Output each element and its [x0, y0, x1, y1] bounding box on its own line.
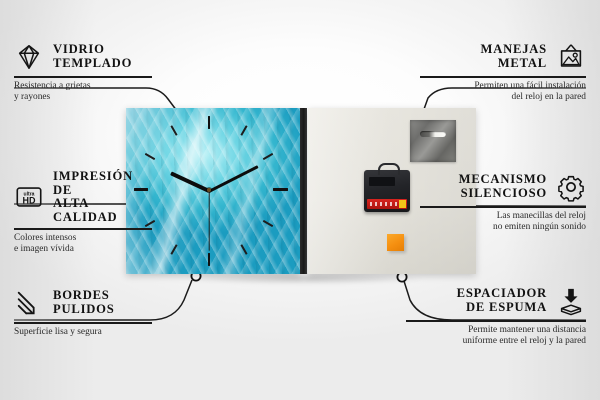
clock-second-hand	[208, 191, 209, 251]
metal-hanger-plate	[410, 120, 456, 162]
feature-title: BORDES PULIDOS	[53, 289, 115, 316]
clock-tick-2	[263, 153, 274, 160]
feature-description: Superficie lisa y segura	[14, 327, 152, 338]
feature-title: MECANISMO SILENCIOSO	[459, 173, 547, 200]
clock-tick-10	[145, 153, 156, 160]
feature-description: Permiten una fácil instalación del reloj…	[420, 81, 586, 104]
ultra-hd-icon: ultra HD	[14, 182, 44, 212]
clock-hour-hand	[170, 171, 210, 192]
feature-rule	[420, 206, 586, 208]
infographic-canvas: VIDRIO TEMPLADO Resistencia a grietas y …	[0, 0, 600, 400]
clock-tick-7	[170, 244, 177, 255]
foam-spacer-icon	[556, 286, 586, 316]
clock-tick-4	[263, 220, 274, 227]
feature-title: IMPRESIÓN DE ALTA CALIDAD	[53, 170, 152, 224]
clock-tick-1	[240, 125, 247, 136]
clock-minute-hand	[208, 165, 259, 193]
feature-manejas-metal: MANEJAS METAL Permiten una fácil instala…	[420, 42, 586, 103]
clock-tick-3	[273, 188, 288, 191]
clock-mechanism	[364, 170, 410, 212]
gear-icon	[556, 172, 586, 202]
diamond-icon	[14, 42, 44, 72]
feature-rule	[14, 322, 152, 324]
feature-title: MANEJAS METAL	[481, 43, 547, 70]
clock-center-pin	[207, 188, 211, 192]
feature-title: ESPACIADOR DE ESPUMA	[457, 287, 547, 314]
feature-rule	[406, 320, 586, 322]
feature-bordes-pulidos: BORDES PULIDOS Superficie lisa y segura	[14, 288, 152, 338]
picture-hanger-icon	[556, 42, 586, 72]
clock-tick-5	[240, 244, 247, 255]
feature-impresion-alta-calidad: ultra HD IMPRESIÓN DE ALTA CALIDAD Color…	[14, 170, 152, 256]
foam-spacer	[387, 234, 404, 251]
mechanism-hook	[378, 163, 400, 175]
feature-espaciador-espuma: ESPACIADOR DE ESPUMA Permite mantener un…	[406, 286, 586, 347]
feature-vidrio-templado: VIDRIO TEMPLADO Resistencia a grietas y …	[14, 42, 152, 103]
feature-rule	[14, 76, 152, 78]
feature-description: Permite mantener una distancia uniforme …	[406, 325, 586, 348]
feature-mecanismo-silencioso: MECANISMO SILENCIOSO Las manecillas del …	[420, 172, 586, 233]
clock-tick-6	[208, 253, 210, 266]
feature-rule	[14, 228, 152, 230]
mechanism-label	[367, 199, 407, 209]
clock-front-face	[126, 108, 300, 274]
mechanism-body	[369, 177, 395, 186]
svg-text:HD: HD	[23, 196, 36, 206]
feature-rule	[420, 76, 586, 78]
clock-tick-12	[208, 116, 210, 129]
feature-description: Colores intensos e imagen vívida	[14, 233, 152, 256]
feature-title: VIDRIO TEMPLADO	[53, 43, 132, 70]
feature-description: Resistencia a grietas y rayones	[14, 81, 152, 104]
hanger-slot	[420, 131, 446, 137]
clock-tick-11	[170, 125, 177, 136]
feature-description: Las manecillas del reloj no emiten ningú…	[420, 211, 586, 234]
polished-edges-icon	[14, 288, 44, 318]
clock-glass-edge	[300, 108, 307, 274]
